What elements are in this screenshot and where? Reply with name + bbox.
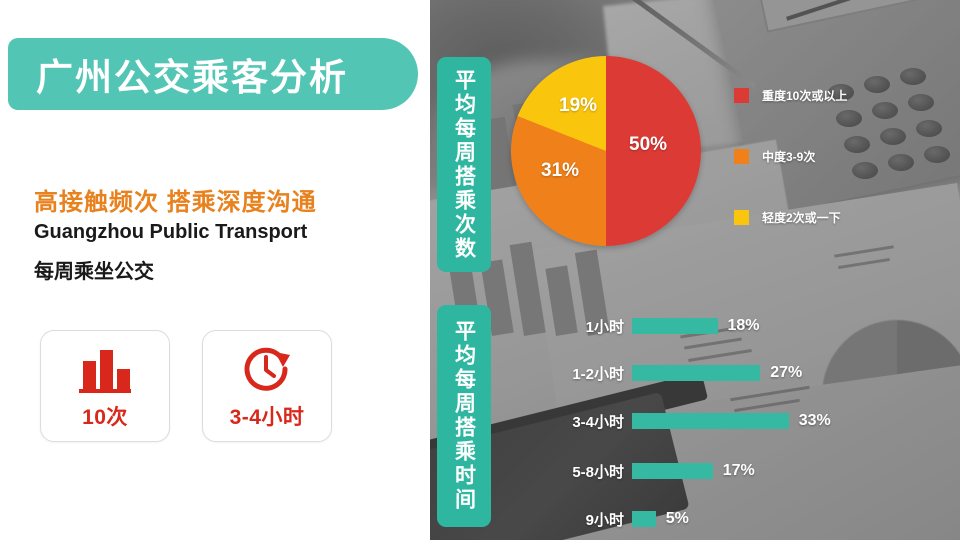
legend-label-light: 轻度2次或一下: [762, 209, 841, 226]
bar-value-label: 17%: [723, 462, 755, 480]
title-banner: 广州公交乘客分析: [8, 38, 418, 110]
legend-swatch-light: [734, 210, 749, 225]
bar-value-label: 33%: [799, 412, 831, 430]
duration-bar-chart: 1小时18%1-2小时27%3-4小时33%5-8小时17%9小时5%: [500, 305, 940, 535]
bar-fill: [632, 413, 789, 429]
bar-track: 17%: [632, 460, 940, 482]
slide-canvas: 广州公交乘客分析 高接触频次 搭乘深度沟通 Guangzhou Public T…: [0, 0, 960, 540]
legend-item-heavy: 重度10次或以上: [734, 88, 924, 102]
section-label-frequency: 平均每周搭乘次数: [437, 57, 491, 272]
bar-category-label: 3-4小时: [500, 411, 632, 432]
bar-fill: [632, 365, 760, 381]
bar-value-label: 18%: [728, 317, 760, 335]
bar-row: 3-4小时33%: [500, 410, 940, 432]
page-title: 广州公交乘客分析: [8, 47, 348, 101]
bar-category-label: 1-2小时: [500, 363, 632, 384]
legend-label-heavy: 重度10次或以上: [762, 87, 847, 104]
legend-label-medium: 中度3-9次: [762, 148, 815, 165]
bar-fill: [632, 511, 656, 527]
pie-slice-label-light: 19%: [559, 95, 597, 117]
bar-row: 1小时18%: [500, 315, 940, 337]
pie-legend: 重度10次或以上 中度3-9次 轻度2次或一下: [734, 88, 924, 271]
legend-item-medium: 中度3-9次: [734, 149, 924, 163]
bar-fill: [632, 463, 713, 479]
pie-slice-label-medium: 31%: [541, 160, 579, 182]
bar-category-label: 9小时: [500, 509, 632, 530]
subtitle-chinese: 每周乘坐公交: [34, 255, 154, 284]
bar-category-label: 5-8小时: [500, 461, 632, 482]
bar-track: 5%: [632, 508, 940, 530]
bar-row: 9小时5%: [500, 508, 940, 530]
bar-track: 33%: [632, 410, 940, 432]
section-label-duration: 平均每周搭乘时间: [437, 305, 491, 527]
bar-fill: [632, 318, 718, 334]
clock-refresh-icon: [241, 343, 293, 397]
bar-value-label: 27%: [770, 364, 802, 382]
section-label-duration-text: 平均每周搭乘时间: [454, 320, 475, 512]
stat-card-hours[interactable]: 3-4小时: [202, 330, 332, 442]
legend-item-light: 轻度2次或一下: [734, 210, 924, 224]
subtitle-english: Guangzhou Public Transport: [34, 221, 307, 244]
stat-card-trips-value: 10次: [82, 401, 128, 431]
bar-category-label: 1小时: [500, 316, 632, 337]
bar-chart-icon: [77, 343, 133, 397]
pie-disc: [511, 56, 701, 246]
headline-orange: 高接触频次 搭乘深度沟通: [34, 182, 317, 217]
section-label-frequency-text: 平均每周搭乘次数: [454, 69, 475, 261]
legend-swatch-heavy: [734, 88, 749, 103]
legend-swatch-medium: [734, 149, 749, 164]
bar-row: 1-2小时27%: [500, 362, 940, 384]
stat-card-hours-value: 3-4小时: [230, 401, 305, 431]
pie-chart: 50% 31% 19%: [511, 56, 701, 246]
bar-track: 27%: [632, 362, 940, 384]
stat-card-trips[interactable]: 10次: [40, 330, 170, 442]
bar-track: 18%: [632, 315, 940, 337]
bar-row: 5-8小时17%: [500, 460, 940, 482]
bar-value-label: 5%: [666, 510, 689, 528]
pie-slice-label-heavy: 50%: [629, 134, 667, 156]
